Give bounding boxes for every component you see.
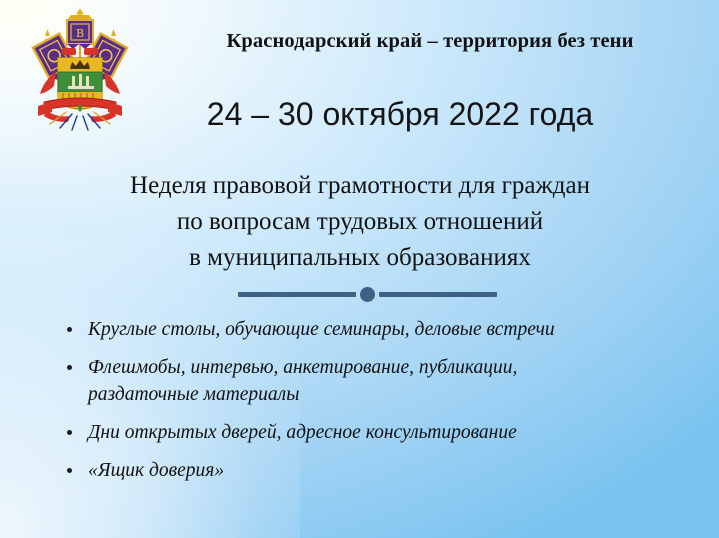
list-item-text: Флешмобы, интервью, анкетирование, публи… xyxy=(88,354,700,408)
subtitle-line-3: в муниципальных образованиях xyxy=(60,240,660,276)
list-item: Дни открытых дверей, адресное консультир… xyxy=(60,419,700,446)
divider-bar-right xyxy=(379,292,497,297)
list-item-text: Круглые столы, обучающие семинары, делов… xyxy=(88,316,700,343)
svg-text:B: B xyxy=(76,27,84,40)
list-item-line: Флешмобы, интервью, анкетирование, публи… xyxy=(88,354,700,381)
list-item-line: «Ящик доверия» xyxy=(88,457,700,484)
page-title: Краснодарский край – территория без тени xyxy=(150,30,710,53)
subtitle-line-2: по вопросам трудовых отношений xyxy=(60,204,660,240)
list-item-line: Круглые столы, обучающие семинары, делов… xyxy=(88,316,700,343)
divider-dot-icon xyxy=(360,287,375,302)
list-item-text: «Ящик доверия» xyxy=(88,457,700,484)
subtitle-line-1: Неделя правовой грамотности для граждан xyxy=(60,168,660,204)
bullet-dot-icon xyxy=(67,365,72,370)
list-item-line: Дни открытых дверей, адресное консультир… xyxy=(88,419,700,446)
bullet-dot-icon xyxy=(67,430,72,435)
list-item-text: Дни открытых дверей, адресное консультир… xyxy=(88,419,700,446)
divider-bar-left xyxy=(238,292,356,297)
list-item: Круглые столы, обучающие семинары, делов… xyxy=(60,316,700,343)
list-item: Флешмобы, интервью, анкетирование, публи… xyxy=(60,354,700,408)
list-item-line: раздаточные материалы xyxy=(88,381,700,408)
list-item: «Ящик доверия» xyxy=(60,457,700,484)
bullet-dot-icon xyxy=(67,327,72,332)
activities-list: Круглые столы, обучающие семинары, делов… xyxy=(60,316,700,495)
section-divider xyxy=(231,285,503,303)
slide-canvas: B xyxy=(0,0,719,538)
date-range: 24 – 30 октября 2022 года xyxy=(110,96,690,133)
subtitle-block: Неделя правовой грамотности для граждан … xyxy=(60,168,660,276)
bullet-dot-icon xyxy=(67,468,72,473)
